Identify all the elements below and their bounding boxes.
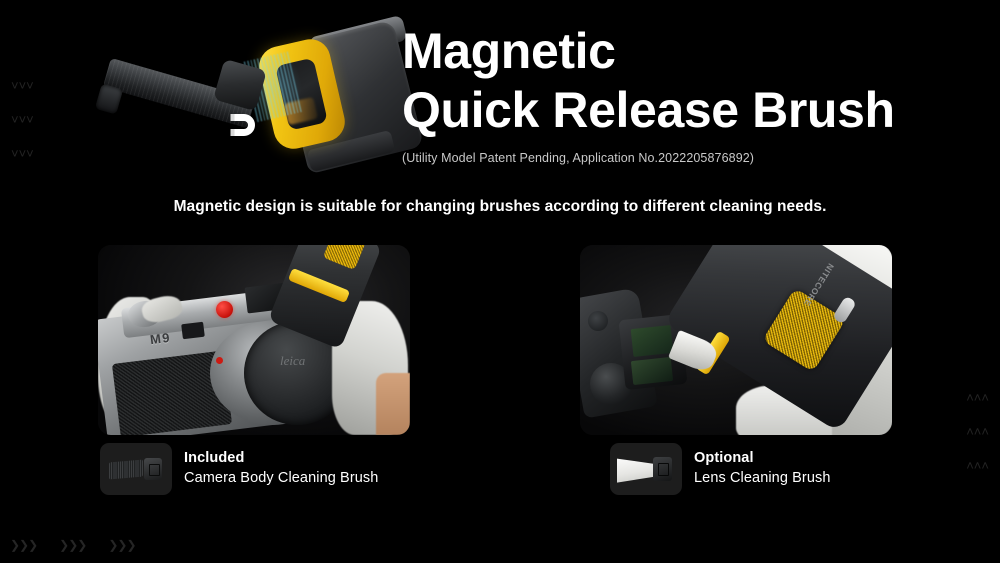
chevron-down-icon: ˅˅˅ [11, 150, 34, 158]
chevron-up-icon: ˄˄˄ [966, 462, 989, 470]
caption-included: Included Camera Body Cleaning Brush [100, 443, 378, 495]
chevron-up-icon-row: ˄˄˄ [966, 394, 989, 402]
magnet-icon [225, 108, 259, 142]
camera-body-photo: M9 leica [98, 245, 410, 435]
chevron-down-icon-row: ˅˅˅ [11, 150, 34, 158]
chevron-right-icon: ❯❯❯ [10, 539, 37, 551]
hero-stage [96, 12, 396, 192]
heading-block: Magnetic Quick Release Brush (Utility Mo… [402, 22, 987, 165]
gimbal-joint [588, 311, 608, 331]
camera-viewfinder-window [181, 322, 205, 340]
caption-product-name: Camera Body Cleaning Brush [184, 470, 378, 487]
flat-brush-connector [144, 458, 162, 480]
chevron-right-icon: ❯❯❯ [108, 539, 135, 551]
fan-brush-bristles [617, 455, 655, 485]
decor-chevrons-right: ˄˄˄ ˄˄˄ ˄˄˄ [966, 394, 989, 470]
chevron-right-icon: ❯❯❯ [59, 539, 86, 551]
product-feature-slide: ˅˅˅ ˅˅˅ ˅˅˅ ˄˄˄ ˄˄˄ ˄˄˄ [0, 0, 1000, 563]
action-camera-lens-screen [631, 357, 673, 385]
lens-index-dot [216, 357, 223, 364]
chevron-down-icon: ˅˅˅ [11, 116, 34, 124]
lens-cap-logo: leica [280, 353, 305, 369]
chevron-up-icon-row: ˄˄˄ [966, 462, 989, 470]
decor-chevrons-left: ˅˅˅ ˅˅˅ ˅˅˅ [11, 82, 34, 158]
flat-brush-icon [100, 443, 172, 495]
tagline: Magnetic design is suitable for changing… [0, 198, 1000, 216]
chevron-down-icon-row: ˅˅˅ [11, 82, 34, 90]
caption-text: Included Camera Body Cleaning Brush [184, 451, 378, 487]
camera-body-panel: M9 leica [98, 245, 410, 435]
caption-text: Optional Lens Cleaning Brush [694, 451, 831, 487]
brush-arm-tip [95, 83, 123, 114]
fan-brush-icon [610, 443, 682, 495]
lens-panel: NITECORE [580, 245, 892, 435]
page-title-line2: Quick Release Brush [402, 81, 987, 140]
lens-cleaning-photo: NITECORE [580, 245, 892, 435]
camera-model-label: M9 [149, 330, 172, 347]
caption-kicker: Included [184, 451, 378, 467]
chevron-up-icon: ˄˄˄ [966, 428, 989, 436]
action-camera-screen [631, 325, 674, 357]
leica-red-dot-logo [216, 301, 233, 318]
chevron-down-icon: ˅˅˅ [11, 82, 34, 90]
patent-note: (Utility Model Patent Pending, Applicati… [402, 151, 987, 165]
page-title-line1: Magnetic [402, 22, 987, 81]
chevron-up-icon-row: ˄˄˄ [966, 428, 989, 436]
caption-optional: Optional Lens Cleaning Brush [610, 443, 831, 495]
caption-kicker: Optional [694, 451, 831, 467]
wrist-skin [376, 373, 410, 435]
decor-chevrons-bottom: ❯❯❯ ❯❯❯ ❯❯❯ [10, 539, 136, 551]
chevron-down-icon-row: ˅˅˅ [11, 116, 34, 124]
caption-product-name: Lens Cleaning Brush [694, 470, 831, 487]
hero-product-image [96, 12, 396, 192]
chevron-up-icon: ˄˄˄ [966, 394, 989, 402]
fan-brush-connector [653, 457, 672, 481]
flat-brush-bristles [109, 460, 143, 480]
